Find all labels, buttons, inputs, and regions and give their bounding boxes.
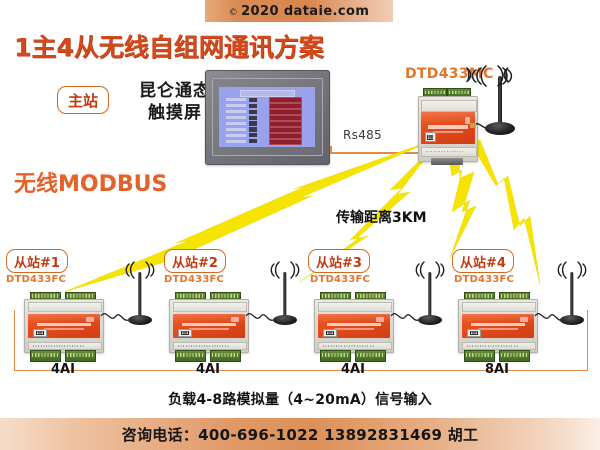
hmi-channel-row [226,121,261,125]
wireless-modbus-reflection: 无线MODBUS [14,168,167,186]
slave-radio-waves-4 [544,258,600,282]
watermark-bar: ©2020 dataie.com [205,0,393,22]
page-title: 1主4从无线自组网通讯方案 [14,28,324,64]
hmi-channel-row [226,110,261,114]
slave-model-2: DTD433FC [164,274,224,285]
slave-radio-waves-2 [257,258,313,282]
slave-io-4: 8AI [458,362,536,377]
hmi-channel-row [226,127,261,131]
hmi-channel-row [226,104,261,108]
hmi-bezel [212,78,323,156]
rs485-riser [330,146,332,154]
module-housing [418,96,478,162]
slave-badge-4: 从站#4 [452,249,514,273]
slave-io-3: 4AI [314,362,392,377]
hmi-channel-row [226,139,261,143]
watermark-text: ©2020 dataie.com [229,4,370,19]
footer-contact-bar: 咨询电话：400-696-1022 13892831469 胡工 [0,418,600,450]
slave-module-3 [314,292,392,360]
watermark-label: 2020 dataie.com [241,4,369,19]
slave-badge-1: 从站#1 [6,249,68,273]
slave-radio-waves-1 [112,258,168,282]
hmi-screen [219,87,315,147]
master-station-badge: 主站 [57,86,109,114]
slave-module-2 [169,292,247,360]
hmi-bar-graph [269,97,302,145]
slave-module-1 [24,292,102,360]
module-front-label [421,112,474,144]
master-radio-waves [462,62,522,90]
transmission-distance-label: 传输距离3KM [336,207,427,227]
slave-io-2: 4AI [169,362,247,377]
hmi-touch-panel [205,70,330,165]
diagram-canvas: ©2020 dataie.com 1主4从无线自组网通讯方案 主站 昆仑通态 触… [0,0,600,450]
slave-module-4 [458,292,536,360]
hmi-channel-row [226,98,261,102]
module-bottom-strip [421,147,476,157]
rs485-label: Rs485 [343,128,382,142]
hmi-channel-row [226,133,261,137]
master-module-dtd433mc [418,88,476,160]
diagram-caption: 负载4-8路模拟量（4~20mA）信号输入 [0,389,600,409]
slave-io-1: 4AI [24,362,102,377]
module-din-clip [431,158,463,165]
hmi-channel-list [226,98,261,144]
footer-contact-text: 咨询电话：400-696-1022 13892831469 胡工 [122,424,479,445]
slave-model-3: DTD433FC [310,274,370,285]
rs485-line [330,152,430,154]
slave-model-1: DTD433FC [6,274,66,285]
slave-model-4: DTD433FC [454,274,514,285]
hmi-channel-row [226,116,261,120]
copyright-symbol: © [229,8,238,18]
slave-badge-2: 从站#2 [164,249,226,273]
slave-badge-3: 从站#3 [308,249,370,273]
slave-radio-waves-3 [402,258,458,282]
module-top-strip [421,100,476,112]
